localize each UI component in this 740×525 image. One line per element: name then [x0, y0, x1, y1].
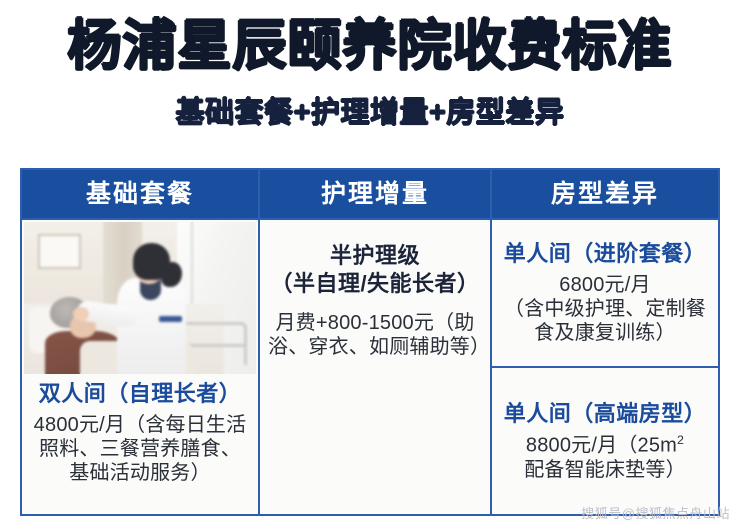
- page-title: 杨浦星辰颐养院收费标准: [0, 18, 740, 75]
- column-body-basic-package: 双人间（自理长者） 4800元/月（含每日生活照料、三餐营养膳食、基础活动服务）: [22, 220, 258, 514]
- room-type-row-advanced: 单人间（进阶套餐） 6800元/月 （含中级护理、定制餐食及康复训练）: [492, 220, 718, 366]
- basic-package-room-title: 双人间（自理长者）: [30, 380, 250, 408]
- advanced-room-title: 单人间（进阶套餐）: [498, 240, 712, 268]
- watermark: 搜狐号@搜狐焦点舟山站: [581, 503, 730, 522]
- premium-room-detail: 配备智能床垫等）: [498, 458, 712, 482]
- column-header-basic-package: 基础套餐: [22, 170, 258, 220]
- care-level-title-line2: （半自理/失能长者）: [268, 270, 482, 298]
- column-body-care-increment: 半护理级 （半自理/失能长者） 月费+800-1500元（助浴、穿衣、如厕辅助等…: [260, 220, 490, 514]
- title-block: 杨浦星辰颐养院收费标准 基础套餐+护理增量+房型差异: [0, 0, 740, 131]
- premium-room-price-prefix: 8800元/月（25m: [526, 434, 677, 456]
- column-header-care-increment: 护理增量: [260, 170, 490, 220]
- column-body-room-type: 单人间（进阶套餐） 6800元/月 （含中级护理、定制餐食及康复训练） 单人间（…: [492, 220, 718, 514]
- column-room-type: 房型差异 单人间（进阶套餐） 6800元/月 （含中级护理、定制餐食及康复训练）…: [492, 170, 718, 514]
- basic-package-text: 双人间（自理长者） 4800元/月（含每日生活照料、三餐营养膳食、基础活动服务）: [22, 374, 258, 514]
- pricing-table: 基础套餐: [20, 168, 720, 516]
- premium-room-title: 单人间（高端房型）: [498, 400, 712, 428]
- column-basic-package: 基础套餐: [22, 170, 258, 514]
- column-header-room-type: 房型差异: [492, 170, 718, 220]
- column-care-increment: 护理增量 半护理级 （半自理/失能长者） 月费+800-1500元（助浴、穿衣、…: [258, 170, 492, 514]
- room-photo-image: [24, 222, 256, 374]
- room-type-row-premium: 单人间（高端房型） 8800元/月（25m2 配备智能床垫等）: [492, 368, 718, 514]
- advanced-room-detail: （含中级护理、定制餐食及康复训练）: [498, 297, 712, 346]
- premium-room-price-superscript: 2: [677, 433, 684, 447]
- advanced-room-price: 6800元/月: [498, 273, 712, 297]
- care-increment-detail: 月费+800-1500元（助浴、穿衣、如厕辅助等）: [268, 311, 482, 360]
- page-subtitle: 基础套餐+护理增量+房型差异: [0, 89, 740, 131]
- photo-blur-overlay: [24, 222, 256, 374]
- premium-room-price: 8800元/月（25m2: [498, 433, 712, 458]
- basic-package-detail: 4800元/月（含每日生活照料、三餐营养膳食、基础活动服务）: [30, 413, 250, 486]
- care-level-title-line1: 半护理级: [268, 242, 482, 270]
